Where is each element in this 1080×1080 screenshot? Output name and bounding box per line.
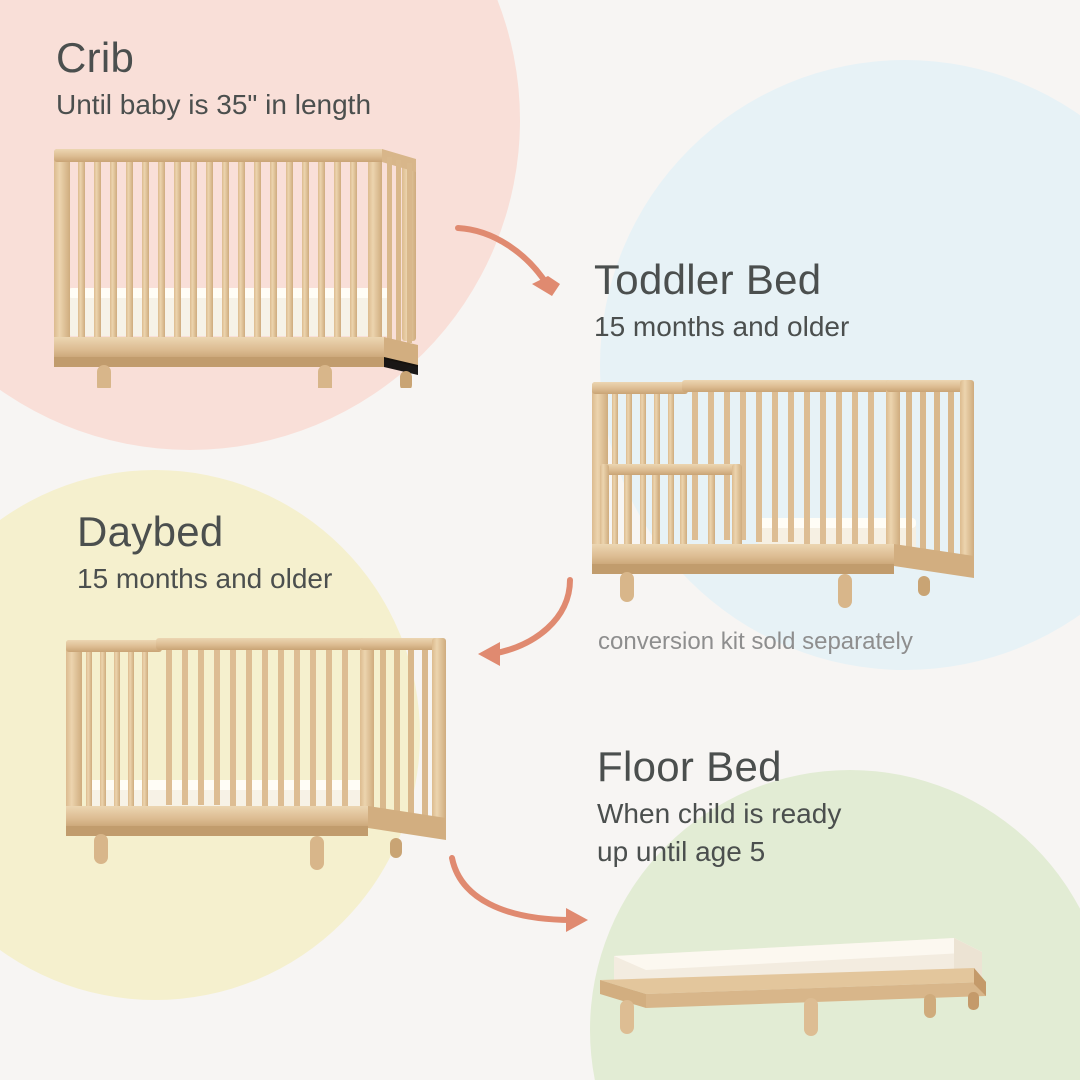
stage-floor-title: Floor Bed [597, 745, 841, 789]
stage-crib-title: Crib [56, 36, 371, 80]
stage-daybed-subtitle: 15 months and older [77, 560, 332, 598]
daybed-illustration [52, 622, 450, 880]
stage-toddler-text: Toddler Bed 15 months and older [594, 258, 849, 346]
crib-illustration [50, 143, 425, 388]
infographic-canvas: Crib Until baby is 35" in length [0, 0, 1080, 1080]
stage-floor-subtitle-line1: When child is ready [597, 795, 841, 833]
stage-crib-subtitle: Until baby is 35" in length [56, 86, 371, 124]
arrow-crib-to-toddler [452, 214, 572, 309]
arrow-daybed-to-floor [446, 846, 606, 941]
stage-daybed-title: Daybed [77, 510, 332, 554]
floor-bed-illustration [586, 908, 1006, 1043]
toddler-bed-illustration [580, 368, 980, 618]
stage-floor-text: Floor Bed When child is ready up until a… [597, 745, 841, 871]
stage-crib-text: Crib Until baby is 35" in length [56, 36, 371, 124]
arrow-toddler-to-daybed [466, 562, 581, 672]
conversion-kit-note: conversion kit sold separately [598, 628, 913, 656]
stage-toddler-subtitle: 15 months and older [594, 308, 849, 346]
stage-daybed-text: Daybed 15 months and older [77, 510, 332, 598]
stage-toddler-title: Toddler Bed [594, 258, 849, 302]
stage-floor-subtitle-line2: up until age 5 [597, 833, 841, 871]
